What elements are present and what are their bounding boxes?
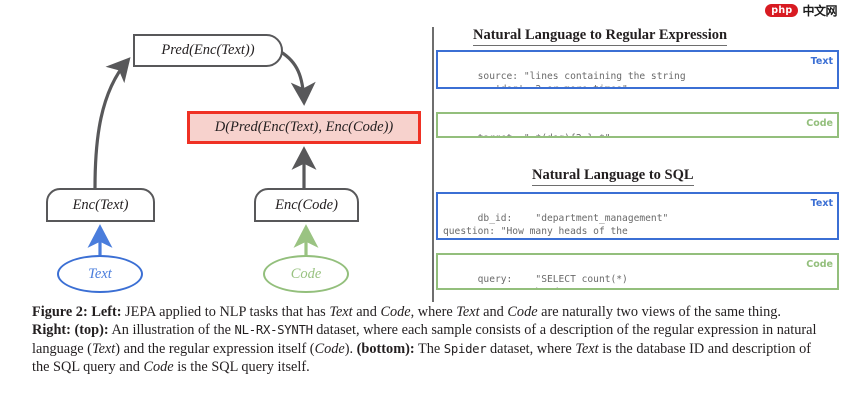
caption-left-text-1: JEPA applied to NLP tasks that has [121,304,329,320]
heading-nl-to-sql: Natural Language to SQL [532,167,694,186]
node-input-code: Code [263,255,349,293]
node-predictor: Pred(Enc(Text)) [133,34,283,67]
dataset-examples-panel: Natural Language to Regular Expression s… [432,0,843,300]
caption-bottom-italic-1: Text [575,341,598,357]
node-distance-loss: D(Pred(Enc(Text), Enc(Code)) [187,111,421,144]
regex-source-text: source: "lines containing the string 'do… [443,71,686,90]
caption-left-italic-2: Code [380,304,410,320]
caption-bottom-text-2: dataset, where [486,341,575,357]
caption-left-text-5: are naturally two views of the same thin… [538,304,781,320]
caption-top-text-4: ). [345,341,357,357]
php-logo-badge: php [765,4,798,17]
caption-top-label: (top): [75,322,109,338]
arrow-pred-to-distance [281,52,304,102]
heading-nl-to-regex: Natural Language to Regular Expression [473,27,727,46]
regex-target-box: target: ".*(dog){2,}.*" Code [436,112,839,138]
caption-left-italic-1: Text [329,304,352,320]
caption-figure-label: Figure 2: [32,304,88,320]
caption-top-text-1: An illustration of the [109,322,235,338]
caption-left-text-4: and [480,304,508,320]
sql-query-box: query: "SELECT count(*) FROM head WHERE … [436,253,839,290]
figure-caption: Figure 2: Left: JEPA applied to NLP task… [32,303,818,377]
jepa-architecture-diagram: Pred(Enc(Text)) D(Pred(Enc(Text), Enc(Co… [0,0,432,300]
regex-source-box: source: "lines containing the string 'do… [436,50,839,89]
caption-bottom-text-4: is the SQL query itself. [174,359,310,375]
caption-top-italic-2: Code [315,341,345,357]
caption-left-label: Left: [91,304,121,320]
panel-divider [432,27,434,302]
sql-question-type-label: Text [811,198,833,210]
regex-target-type-label: Code [806,118,833,130]
figure-body: Pred(Enc(Text)) D(Pred(Enc(Text), Enc(Co… [0,0,843,300]
sql-query-text: query: "SELECT count(*) FROM head WHERE … [443,274,651,291]
regex-source-type-label: Text [811,56,833,68]
site-watermark: php 中文网 [765,2,837,18]
caption-bottom-label: (bottom): [357,341,415,357]
caption-left-text-2: and [353,304,381,320]
caption-right-label: Right: [32,322,71,338]
caption-top-italic-1: Text [92,341,115,357]
caption-left-text-3: , where [411,304,457,320]
caption-bottom-text-1: The [415,341,444,357]
sql-question-text: db_id: "department_management" question:… [443,213,691,241]
caption-left-italic-3: Text [456,304,479,320]
sql-query-type-label: Code [806,259,833,271]
caption-dataset-spider: Spider [444,342,487,356]
caption-top-text-3: ) and the regular expression itself ( [115,341,314,357]
sql-question-box: db_id: "department_management" question:… [436,192,839,240]
regex-target-text: target: ".*(dog){2,}.*" [478,133,611,139]
arrow-enctext-to-pred [95,60,128,188]
node-input-text: Text [57,255,143,293]
caption-dataset-nlrxsynth: NL-RX-SYNTH [235,323,313,337]
caption-bottom-italic-2: Code [143,359,173,375]
caption-left-italic-4: Code [507,304,537,320]
node-encoder-text: Enc(Text) [46,188,155,222]
chinese-site-name: 中文网 [802,2,837,19]
node-encoder-code: Enc(Code) [254,188,359,222]
